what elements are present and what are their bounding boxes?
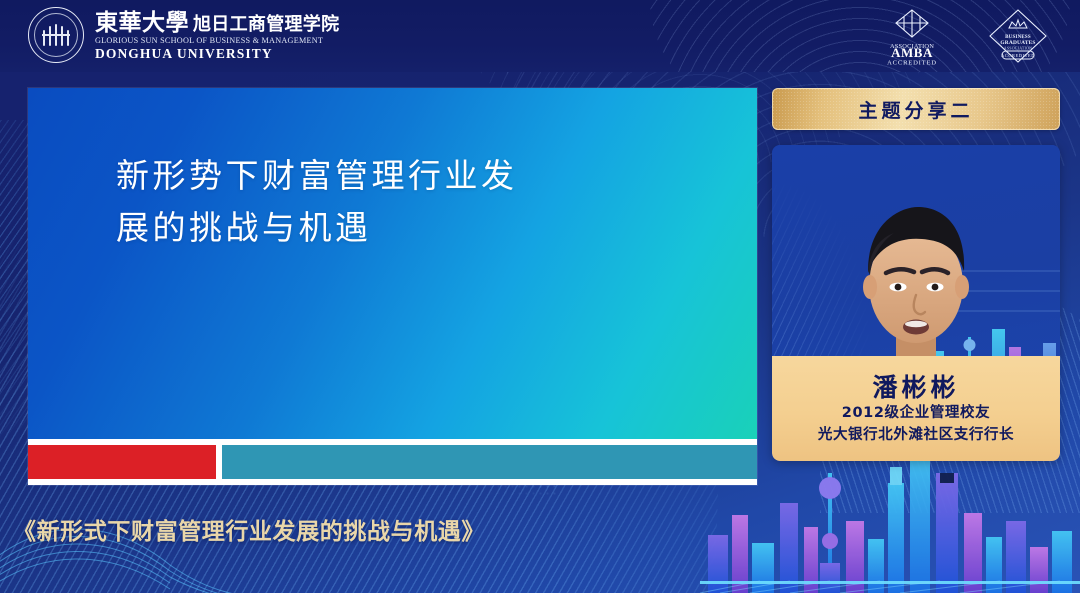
school-name-cn: 旭日工商管理学院 [193, 16, 339, 35]
speaker-affiliation-alumni: 2012级企业管理校友 [842, 403, 990, 425]
speaker-name: 潘彬彬 [872, 372, 959, 403]
page-header: 東華大學 旭日工商管理学院 GLORIOUS SUN SCHOOL OF BUS… [0, 0, 1080, 72]
bga-accredited-icon: BUSINESS GRADUATES ASSOCIATION ACCREDITE… [982, 6, 1054, 66]
speaker-info-card: 潘彬彬 2012级企业管理校友 光大银行北外滩社区支行行长 [772, 356, 1060, 461]
slide-bar-teal [222, 445, 757, 479]
session-caption: 《新形式下财富管理行业发展的挑战与机遇》 [13, 512, 485, 546]
speaker-panel: 主题分享二 [772, 88, 1060, 461]
university-name-cn: 東華大學 [95, 11, 189, 35]
university-logo-text: 東華大學 旭日工商管理学院 GLORIOUS SUN SCHOOL OF BUS… [95, 9, 339, 62]
session-title-label: 主题分享二 [858, 96, 973, 123]
dhu-seal-icon [28, 7, 84, 63]
slide-title: 新形势下财富管理行业发 展的挑战与机遇 [116, 150, 636, 254]
accreditation-logos: ASSOCIATION AMBA ACCREDITED BUSINESS GRA… [876, 6, 1054, 66]
school-name-en: GLORIOUS SUN SCHOOL OF BUSINESS & MANAGE… [95, 36, 339, 45]
shanghai-skyline-icon [700, 443, 1080, 593]
university-logo: 東華大學 旭日工商管理学院 GLORIOUS SUN SCHOOL OF BUS… [28, 7, 339, 63]
slide-footer-bars [28, 439, 757, 485]
svg-text:ASSOCIATION: ASSOCIATION [1004, 45, 1032, 50]
shared-slide[interactable]: 新形势下财富管理行业发 展的挑战与机遇 主讲人：潘彬彬 中国光大银行上海北外滩社… [28, 88, 757, 485]
svg-text:AMBA: AMBA [891, 45, 933, 60]
amba-accredited-icon: ASSOCIATION AMBA ACCREDITED [876, 6, 948, 66]
slide-bar-red [28, 445, 216, 479]
svg-text:ACCREDITED: ACCREDITED [887, 60, 937, 67]
presentation-screen: 東華大學 旭日工商管理学院 GLORIOUS SUN SCHOOL OF BUS… [0, 0, 1080, 593]
speaker-affiliation-title: 光大银行北外滩社区支行行长 [818, 425, 1014, 447]
session-title-banner: 主题分享二 [772, 88, 1060, 130]
svg-text:ACCREDITED: ACCREDITED [1001, 53, 1035, 58]
speaker-video-tile[interactable]: 潘彬彬 2012级企业管理校友 光大银行北外滩社区支行行长 [772, 145, 1060, 461]
university-name-en: DONGHUA UNIVERSITY [95, 46, 339, 62]
